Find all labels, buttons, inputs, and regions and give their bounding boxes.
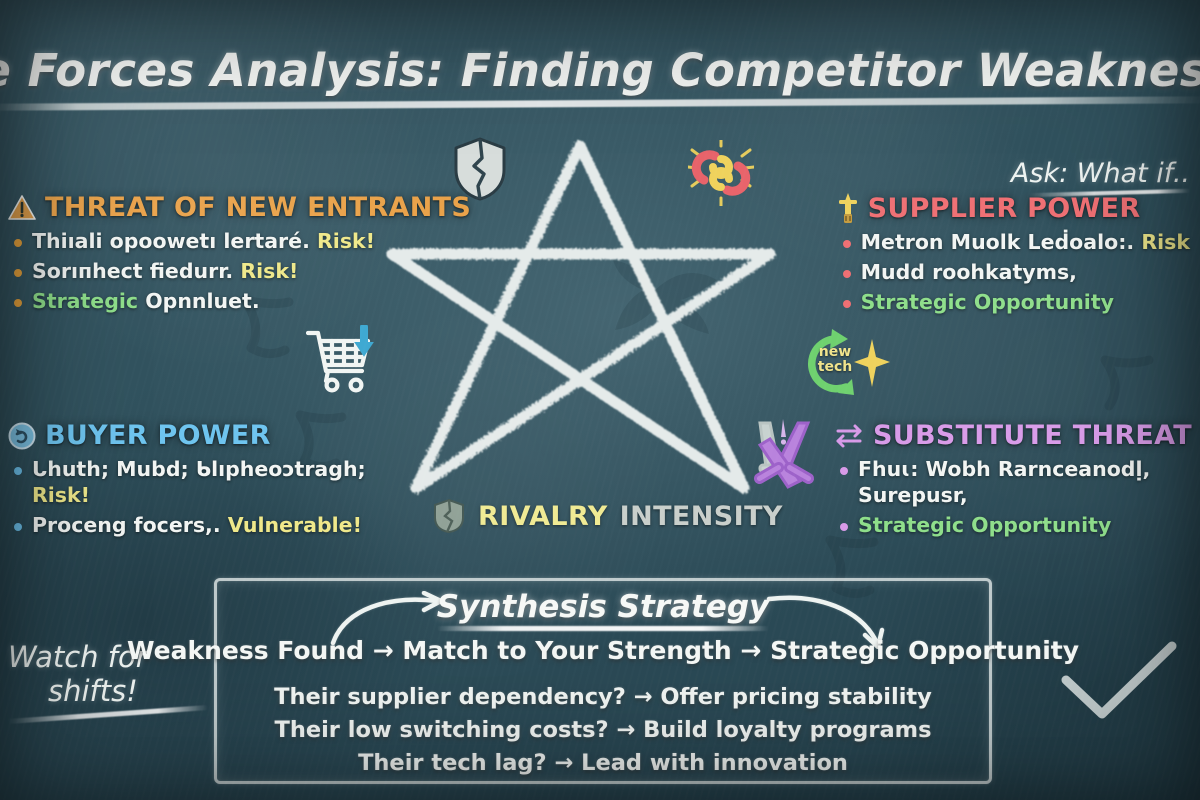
chalkboard-canvas: ive Forces Analysis: Finding Competitor … — [0, 0, 1200, 800]
synthesis-example-line: Their tech lag? → Lead with innovation — [217, 747, 989, 780]
bullet-tag-vulnerable: Vulnerable! — [228, 513, 362, 537]
synthesis-example-line: Their low switching costs? → Build loyal… — [217, 714, 989, 747]
synthesis-flow-line: Weakness Found → Match to Your Strength … — [127, 636, 1079, 665]
bullet-item: Strategic Opportunity — [837, 290, 1190, 316]
newtech-line1: new — [819, 344, 851, 360]
swap-arrows-icon — [834, 423, 864, 449]
force-heading-supplier-power: SUPPLIER POWER — [837, 192, 1190, 224]
bullet-tag-opportunity: Strategic — [32, 289, 138, 313]
bullet-text-opportunity: Strategic Opportunity — [861, 290, 1114, 314]
force-bullets-substitute-threat: Fhuɩ: Wobh Rarnceanodḷ, Surepusr, Strate… — [834, 457, 1164, 538]
bullet-item: Fhuɩ: Wobh Rarnceanodḷ, Surepusr, — [834, 457, 1164, 509]
synthesis-title: Synthesis Strategy — [437, 589, 769, 631]
rivalry-word-2: INTENSITY — [620, 501, 783, 532]
rivalry-shield-icon — [432, 498, 466, 534]
bullet-tag-risk: Risk! — [240, 259, 298, 283]
rivalry-intensity-label: RIVALRY INTENSITY — [432, 498, 783, 534]
bullet-text: Thiıali opoowetı lertaré. — [32, 229, 310, 253]
bullet-item: ᒐhuth; Mubd; ᑲlıpheoɔtragh; Risk! — [8, 457, 366, 509]
force-heading-buyer-power: BUYER POWER — [8, 420, 366, 451]
bullet-text: Opnnluet. — [145, 289, 259, 313]
note-ask-text: Ask: What if.. — [1011, 158, 1190, 189]
force-heading-label: SUBSTITUTE THREAT — [873, 420, 1192, 451]
force-heading-label: THREAT OF NEW ENTRANTS — [45, 192, 471, 223]
broken-chain-icon — [688, 140, 754, 206]
force-block-supplier-power: SUPPLIER POWER Metron Muolk Leḋoalo:. Ri… — [837, 192, 1190, 319]
force-bullets-supplier-power: Metron Muolk Leḋoalo:. Risk Mudd roohkat… — [837, 230, 1190, 315]
buyer-circle-icon — [8, 422, 36, 450]
bullet-item: Mudd roohkatyms, — [837, 260, 1190, 286]
force-heading-label: SUPPLIER POWER — [868, 193, 1141, 224]
force-block-substitute-threat: SUBSTITUTE THREAT Fhuɩ: Wobh Rarnceanodḷ… — [834, 420, 1192, 542]
force-block-threat-of-new-entrants: THREAT OF NEW ENTRANTS Thiıali opoowetı … — [8, 192, 471, 318]
newtech-line2: tech — [818, 359, 852, 375]
bullet-text: ᒐhuth; Mubd; ᑲlıpheoɔtragh; — [32, 457, 366, 481]
bullet-item: Strategic Opportunity — [834, 513, 1164, 539]
synthesis-title-text: Synthesis Strategy — [437, 589, 769, 625]
force-heading-substitute-threat: SUBSTITUTE THREAT — [834, 420, 1192, 451]
crossed-swords-icon — [748, 415, 820, 495]
warning-triangle-icon — [8, 195, 36, 221]
bullet-tag-risk: Risk — [1141, 230, 1190, 254]
shopping-cart-down-arrow-icon — [306, 325, 378, 393]
bullet-tag-risk: Risk! — [32, 483, 90, 507]
bullet-item: Metron Muolk Leḋoalo:. Risk — [837, 230, 1190, 256]
force-bullets-threat-of-new-entrants: Thiıali opoowetı lertaré. Risk! Sorıᴨhec… — [8, 229, 471, 314]
bullet-text-opportunity: Strategic Opportunity — [858, 513, 1111, 537]
synthesis-example-line: Their supplier dependency? → Offer prici… — [217, 681, 989, 714]
page-title: ive Forces Analysis: Finding Competitor … — [0, 44, 1200, 97]
newtech-label: new tech — [810, 345, 860, 375]
force-heading-label: BUYER POWER — [45, 420, 271, 451]
bullet-item: Proceng focers,. Vulnerable! — [8, 513, 366, 539]
synthesis-title-underline — [437, 626, 769, 631]
bullet-item: Thiıali opoowetı lertaré. Risk! — [8, 229, 471, 255]
note-ask-what-if: Ask: What if.. — [1011, 158, 1190, 195]
title-underline-rule — [0, 96, 1200, 110]
bullet-text: Fhuɩ: Wobh Rarnceanodḷ, Surepusr, — [858, 457, 1150, 507]
synthesis-examples: Their supplier dependency? → Offer prici… — [217, 681, 989, 780]
bullet-item: Sorıᴨhect fiedurr. Risk! — [8, 259, 471, 285]
rivalry-word-1: RIVALRY — [478, 501, 608, 532]
dagger-icon — [837, 192, 859, 224]
bullet-item: Strategic Opnnluet. — [8, 289, 471, 315]
bullet-text: Proceng focers,. — [32, 513, 221, 537]
bullet-text: Mudd roohkatyms, — [861, 260, 1077, 284]
bullet-text: Metron Muolk Leḋoalo:. — [861, 230, 1135, 254]
note-watch-line2: shifts! — [48, 674, 208, 708]
bullet-tag-risk: Risk! — [317, 229, 375, 253]
bullet-text: Sorıᴨhect fiedurr. — [32, 259, 233, 283]
force-block-buyer-power: BUYER POWER ᒐhuth; Mubd; ᑲlıpheoɔtragh; … — [8, 420, 366, 542]
synthesis-strategy-box: Synthesis Strategy Weakness Found → Matc… — [214, 578, 992, 784]
force-heading-threat-of-new-entrants: THREAT OF NEW ENTRANTS — [8, 192, 471, 223]
force-bullets-buyer-power: ᒐhuth; Mubd; ᑲlıpheoɔtragh; Risk! Procen… — [8, 457, 366, 538]
